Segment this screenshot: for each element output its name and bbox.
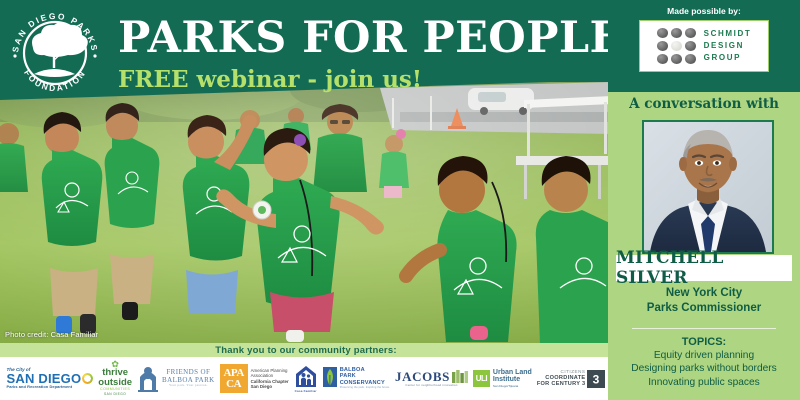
topic-item: Designing parks without borders	[608, 362, 800, 375]
sponsor-label: Made possible by:	[667, 6, 741, 16]
bpc-line4: Preserving the park. Inspiring the futur…	[340, 387, 390, 390]
speaker-name-bar: MITCHELL SILVER	[616, 255, 792, 281]
partner-logo-urban-land-institute: ULI Urban Land Institute San Diego/Tijua…	[473, 359, 532, 399]
schmidt-line3: GROUP	[704, 52, 752, 64]
webinar-promo-poster: SAN DIEGO PARKS FOUNDATION PARKS FOR PEO…	[0, 0, 800, 400]
apa-line4: San Diego	[251, 384, 289, 390]
photo-image	[0, 82, 612, 344]
schmidt-line1: SCHMIDT	[704, 28, 752, 40]
page-subtitle: FREE webinar - join us!	[118, 66, 612, 93]
photo-credit: Photo credit: Casa Familiar	[5, 330, 98, 339]
main-column: SAN DIEGO PARKS FOUNDATION PARKS FOR PEO…	[0, 0, 612, 400]
topic-item: Innovating public spaces	[608, 376, 800, 389]
uli-line2: Institute	[493, 376, 532, 384]
conversation-intro: A conversation with	[608, 96, 800, 112]
san-diego-parks-foundation-logo: SAN DIEGO PARKS FOUNDATION	[6, 4, 104, 102]
c3-line3: FOR CENTURY 3	[537, 381, 586, 387]
house-family-icon	[294, 364, 318, 388]
uli-line3: San Diego/Tijuana	[493, 385, 532, 388]
stones-icon	[657, 28, 696, 64]
partner-logo-casa-familiar: Casa Familiar	[294, 359, 318, 399]
topics-heading: TOPICS:	[608, 336, 800, 348]
partner-logo-balboa-park-conservancy: BALBOA PARK CONSERVANCY Preserving the p…	[323, 359, 390, 399]
topics-block: TOPICS: Equity driven planning Designing…	[608, 336, 800, 389]
partner-logo-city-of-san-diego: The City of SAN DIEGO Parks and Recreati…	[7, 359, 94, 399]
partner-logo-apa-california: APA CA American Planning Association Cal…	[220, 359, 289, 399]
speaker-role: New York City Parks Commissioner	[608, 286, 800, 316]
portrait-image	[644, 122, 772, 252]
c3-mark-icon: 3	[587, 370, 605, 388]
thrive-line4: SAN DIEGO	[104, 393, 126, 396]
partner-logo-friends-of-balboa-park: FRIENDS OF BALBOA PARK Your park. Your p…	[137, 359, 215, 399]
jacobs-tagline: Center for neighborhood innovation	[405, 384, 457, 387]
speaker-role-line2: Parks Commissioner	[608, 301, 800, 316]
uli-line1: Urban Land	[493, 369, 532, 377]
sponsor-block: Made possible by: SCHMIDT DESIGN GROUP	[608, 0, 800, 92]
tree-icon: SAN DIEGO PARKS FOUNDATION	[6, 4, 104, 102]
partners-section: Thank you to our community partners: The…	[0, 343, 612, 400]
apa-mark2: CA	[226, 379, 241, 390]
event-photo	[0, 82, 612, 344]
title-block: PARKS FOR PEOPLE FREE webinar - join us!	[118, 16, 612, 93]
partner-logo-row: The City of SAN DIEGO Parks and Recreati…	[0, 357, 612, 400]
page-title: PARKS FOR PEOPLE	[118, 16, 612, 61]
speaker-portrait	[642, 120, 774, 254]
topic-item: Equity driven planning	[608, 349, 800, 362]
jacobs-bars-icon	[452, 370, 468, 383]
partner-logo-jacobs: JACOBS Center for neighborhood innovatio…	[395, 359, 468, 399]
jacobs-wordmark: JACOBS	[395, 370, 450, 384]
svg-text:3: 3	[593, 372, 600, 386]
thrive-line3: COMMUNITIES	[100, 388, 130, 392]
speaker-role-line1: New York City	[608, 286, 800, 301]
panel-divider	[632, 328, 776, 329]
swoosh-icon	[82, 373, 93, 384]
apa-mark1: APA	[223, 368, 243, 379]
speaker-name: MITCHELL SILVER	[616, 248, 792, 288]
partners-heading: Thank you to our community partners:	[0, 345, 612, 356]
partner-logo-citizens-coordinate-century-3: CITIZENS COORDINATE FOR CENTURY 3 3	[537, 359, 606, 399]
partner-logo-thrive-outside: ✿ thrive outside COMMUNITIES SAN DIEGO	[98, 359, 132, 399]
schmidt-line2: DESIGN	[704, 40, 752, 52]
sd-bottom-text: Parks and Recreation Department	[7, 385, 73, 389]
fobp-line3: Your park. Your passion.	[169, 384, 208, 388]
conservancy-mark-icon	[323, 367, 337, 391]
schmidt-design-group-logo: SCHMIDT DESIGN GROUP	[639, 20, 769, 72]
casa-familiar-label: Casa Familiar	[295, 389, 317, 393]
uli-mark-text: ULI	[476, 374, 487, 383]
balboa-building-icon	[137, 366, 159, 392]
